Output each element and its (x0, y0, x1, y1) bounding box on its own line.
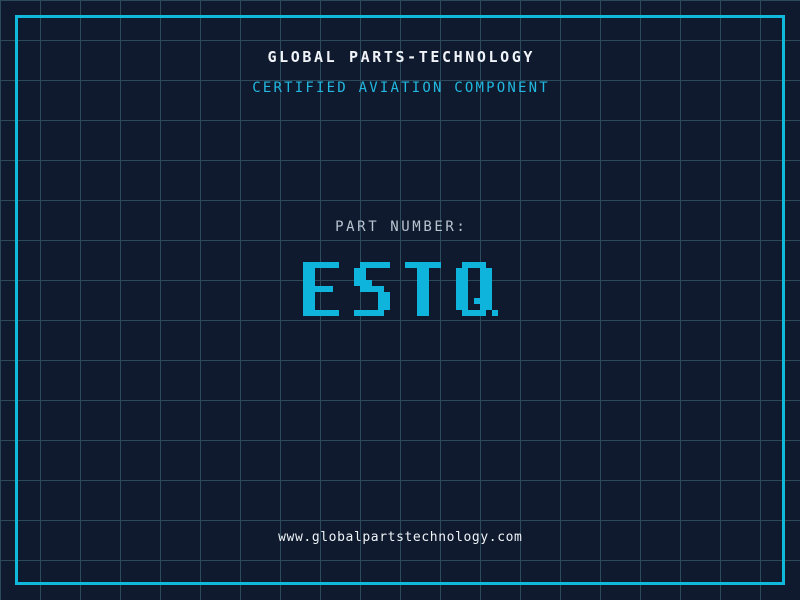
part-number-glyph (405, 262, 447, 316)
part-number-glyph (303, 262, 345, 316)
part-number-glyph (456, 262, 498, 316)
part-number-value (0, 262, 800, 316)
part-number-glyph (354, 262, 396, 316)
website-url: www.globalpartstechnology.com (0, 530, 800, 545)
part-number-card: GLOBAL PARTS-TECHNOLOGY CERTIFIED AVIATI… (0, 0, 800, 600)
company-title: GLOBAL PARTS-TECHNOLOGY (0, 48, 800, 66)
certification-subtitle: CERTIFIED AVIATION COMPONENT (0, 80, 800, 96)
card-content: GLOBAL PARTS-TECHNOLOGY CERTIFIED AVIATI… (0, 0, 800, 600)
part-number-label: PART NUMBER: (0, 219, 800, 235)
